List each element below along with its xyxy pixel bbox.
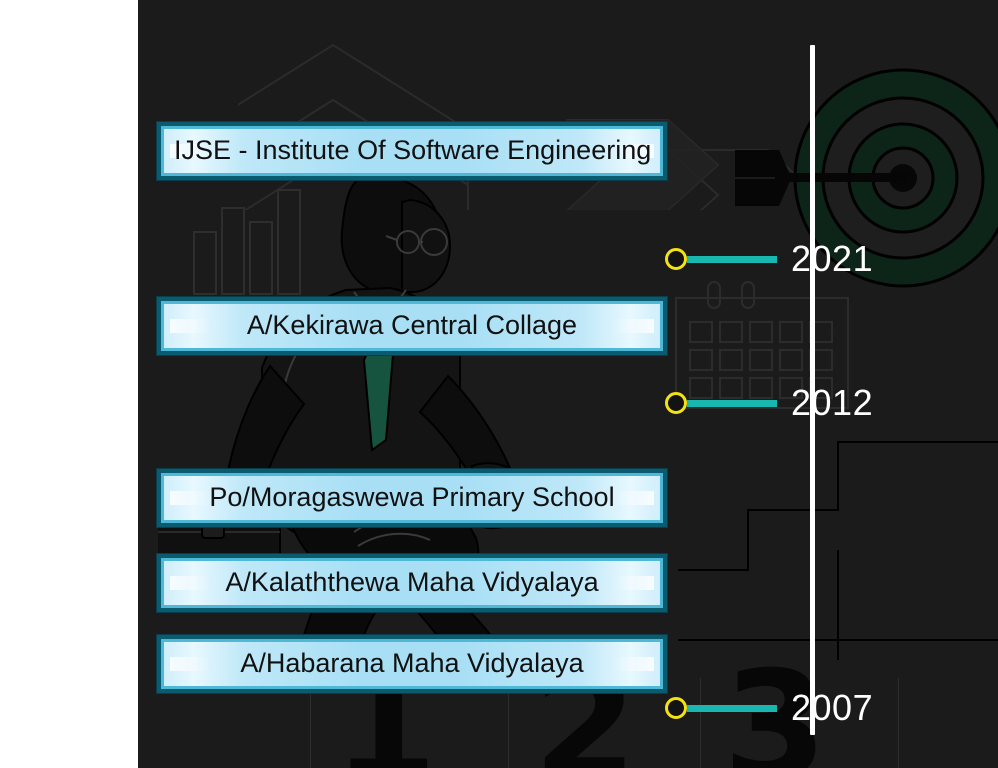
education-label: IJSE - Institute Of Software Engineering bbox=[174, 135, 651, 165]
timeline-year-2012: 2012 bbox=[791, 385, 873, 421]
timeline-node-2012[interactable]: 2012 bbox=[665, 383, 873, 423]
education-chip-moragaswewa[interactable]: Po/Moragaswewa Primary School bbox=[156, 468, 668, 528]
education-label: A/Habarana Maha Vidyalaya bbox=[240, 648, 583, 678]
stairs-icon bbox=[678, 400, 998, 660]
timeline-dot-2007[interactable] bbox=[665, 697, 687, 719]
chip-inner: A/Habarana Maha Vidyalaya bbox=[164, 642, 660, 686]
timeline-node-2007[interactable]: 2007 bbox=[665, 688, 873, 728]
education-chip-habarana[interactable]: A/Habarana Maha Vidyalaya bbox=[156, 634, 668, 694]
education-label: Po/Moragaswewa Primary School bbox=[209, 482, 614, 512]
chip-border-mid: Po/Moragaswewa Primary School bbox=[161, 473, 663, 523]
chip-border-mid: A/Kekirawa Central Collage bbox=[161, 301, 663, 351]
timeline-connector-2012 bbox=[687, 400, 777, 407]
arrow-icon bbox=[735, 150, 909, 206]
timeline-connector-2021 bbox=[687, 256, 777, 263]
slide-canvas: 1 2 3 2021 2012 2007 IJSE - Institute Of… bbox=[0, 0, 998, 768]
education-label: A/Kekirawa Central Collage bbox=[247, 310, 577, 340]
chip-inner: IJSE - Institute Of Software Engineering bbox=[164, 129, 660, 173]
timeline-connector-2007 bbox=[687, 705, 777, 712]
timeline-year-2021: 2021 bbox=[791, 241, 873, 277]
bar-chart-icon bbox=[190, 180, 310, 300]
education-chip-ijse[interactable]: IJSE - Institute Of Software Engineering bbox=[156, 121, 668, 181]
chip-border-mid: IJSE - Institute Of Software Engineering bbox=[161, 126, 663, 176]
education-label: A/Kalaththewa Maha Vidyalaya bbox=[225, 567, 598, 597]
education-chip-kekirawa[interactable]: A/Kekirawa Central Collage bbox=[156, 296, 668, 356]
timeline-dot-2012[interactable] bbox=[665, 392, 687, 414]
education-chip-kalaththewa[interactable]: A/Kalaththewa Maha Vidyalaya bbox=[156, 553, 668, 613]
background-divider bbox=[898, 678, 899, 768]
chip-inner: A/Kekirawa Central Collage bbox=[164, 304, 660, 348]
chip-border-mid: A/Kalaththewa Maha Vidyalaya bbox=[161, 558, 663, 608]
timeline-node-2021[interactable]: 2021 bbox=[665, 239, 873, 279]
chip-inner: A/Kalaththewa Maha Vidyalaya bbox=[164, 561, 660, 605]
chip-inner: Po/Moragaswewa Primary School bbox=[164, 476, 660, 520]
chip-border-mid: A/Habarana Maha Vidyalaya bbox=[161, 639, 663, 689]
timeline-year-2007: 2007 bbox=[791, 690, 873, 726]
timeline-dot-2021[interactable] bbox=[665, 248, 687, 270]
